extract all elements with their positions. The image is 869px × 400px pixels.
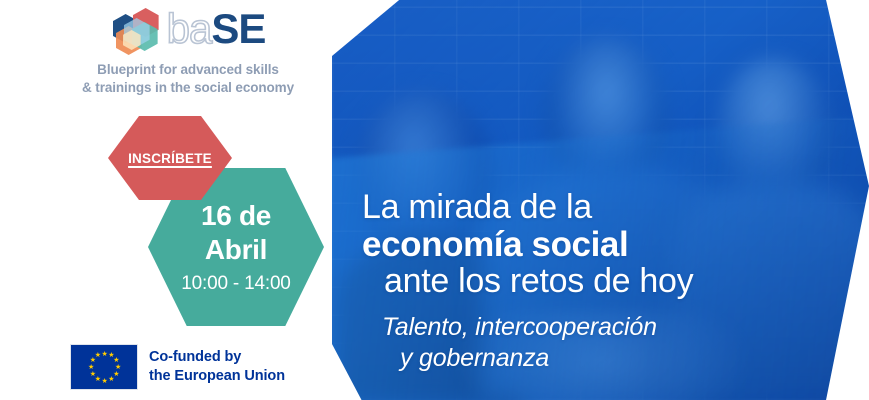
logo-wordmark: baSE [167,8,266,50]
logo-tagline-line-1: Blueprint for advanced skills [62,61,314,79]
eu-funding-text: Co-funded by the European Union [149,348,285,386]
logo-tagline-line-2: & trainings in the social economy [62,79,314,97]
event-headline: La mirada de la economía social ante los… [362,190,842,299]
eu-funding-line-1: Co-funded by [149,348,285,367]
logo-hexagon-cluster-icon [111,6,163,52]
logo-mark-row: baSE [62,6,314,52]
subheadline-line-1: Talento, intercooperación [382,313,657,341]
european-union-flag-icon [70,344,138,390]
eu-funding-logo: Co-funded by the European Union [70,344,285,390]
headline-line-2-emphasis: economía social [362,227,842,263]
event-date-month: Abril [205,233,267,266]
subheadline-line-2: y gobernanza [400,343,802,374]
logo-tagline: Blueprint for advanced skills & training… [62,61,314,97]
logo-wordmark-outline: ba [167,8,212,50]
headline-line-3: ante los retos de hoy [384,264,842,299]
event-date-time: 10:00 - 14:00 [181,273,290,295]
logo-wordmark-solid: SE [211,8,265,50]
base-logo[interactable]: baSE Blueprint for advanced skills & tra… [62,6,314,97]
event-subheadline: Talento, intercooperación y gobernanza [382,312,802,373]
eu-funding-line-2: the European Union [149,367,285,386]
headline-line-1: La mirada de la [362,190,842,225]
event-promo-banner: La mirada de la economía social ante los… [0,0,869,400]
event-date-day: 16 de [201,199,271,232]
register-cta-label: INSCRÍBETE [128,151,212,166]
